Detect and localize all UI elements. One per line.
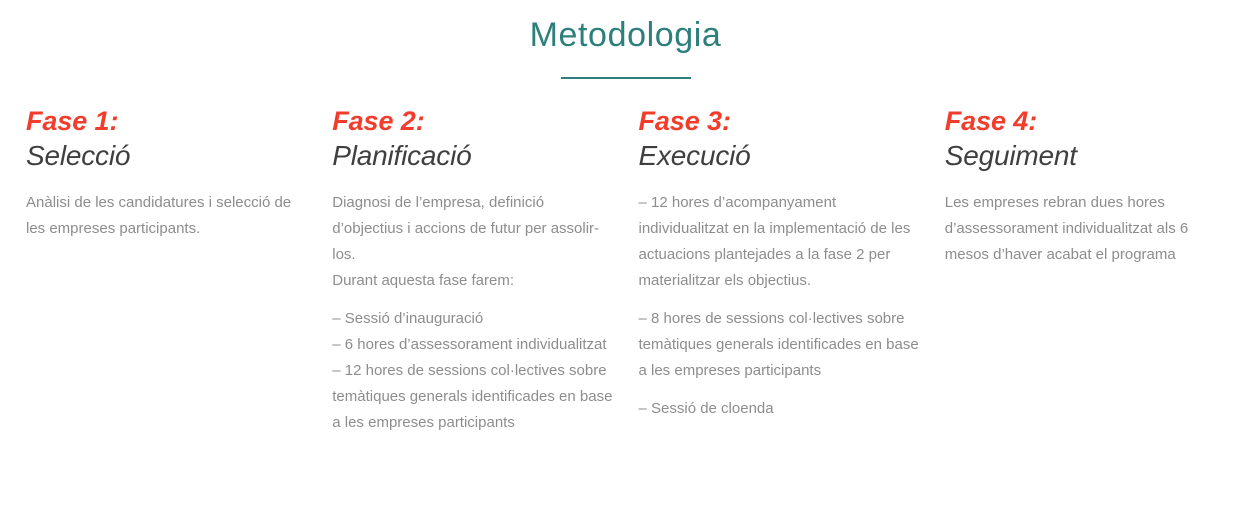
phase-label-4: Fase 4:: [945, 105, 1225, 138]
phase-column-3: Fase 3: Execució – 12 hores d’acompanyam…: [639, 105, 919, 422]
phase-text-block: – 12 hores d’acompanyament individualitz…: [639, 190, 919, 294]
phase-name-3: Execució: [639, 138, 919, 174]
title-divider: [561, 77, 691, 79]
phase-text-block: Diagnosi de l’empresa, definició d’objec…: [332, 190, 612, 294]
phase-text-block: – 8 hores de sessions col·lectives sobre…: [639, 306, 919, 384]
phase-columns: Fase 1: Selecció Anàlisi de les candidat…: [26, 105, 1225, 436]
phase-name-2: Planificació: [332, 138, 612, 174]
phase-name-4: Seguiment: [945, 138, 1225, 174]
phase-text-block: – Sessió de cloenda: [639, 396, 919, 422]
phase-name-1: Selecció: [26, 138, 306, 174]
methodology-page: Metodologia Fase 1: Selecció Anàlisi de …: [0, 0, 1251, 517]
phase-text-block: Les empreses rebran dues hores d’assesso…: [945, 190, 1225, 268]
page-header: Metodologia: [0, 0, 1251, 79]
phase-label-2: Fase 2:: [332, 105, 612, 138]
phase-column-2: Fase 2: Planificació Diagnosi de l’empre…: [332, 105, 612, 436]
phase-column-1: Fase 1: Selecció Anàlisi de les candidat…: [26, 105, 306, 242]
phase-label-1: Fase 1:: [26, 105, 306, 138]
phase-column-4: Fase 4: Seguiment Les empreses rebran du…: [945, 105, 1225, 268]
phase-text-block: Anàlisi de les candidatures i selecció d…: [26, 190, 306, 242]
page-title: Metodologia: [0, 14, 1251, 56]
phase-text-block: – Sessió d’inauguració – 6 hores d’asses…: [332, 306, 612, 436]
phase-label-3: Fase 3:: [639, 105, 919, 138]
